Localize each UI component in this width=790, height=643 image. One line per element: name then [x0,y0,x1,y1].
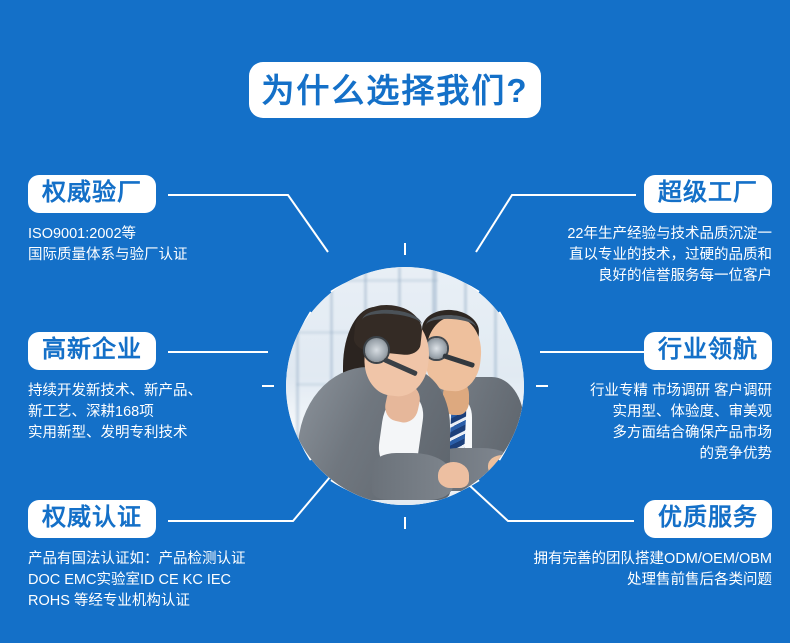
feature-right-3-badge-label: 优质服务 [658,506,758,530]
feature-left-1: 权威验厂 ISO9001:2002等 国际质量体系与验厂认证 [28,175,328,266]
feature-left-2: 高新企业 持续开发新技术、新产品、 新工艺、深耕168项 实用新型、发明专利技术 [28,332,328,444]
feature-right-1: 超级工厂 22年生产经验与技术品质沉淀一 直以专业的技术，过硬的品质和 良好的信… [472,175,772,287]
feature-right-1-desc: 22年生产经验与技术品质沉淀一 直以专业的技术，过硬的品质和 良好的信誉服务每一… [472,224,772,287]
feature-left-1-badge[interactable]: 权威验厂 [28,175,156,213]
feature-right-1-badge[interactable]: 超级工厂 [644,175,772,213]
feature-left-3-badge-label: 权威认证 [42,506,142,530]
page-title-badge: 为什么选择我们? [249,62,541,118]
feature-left-3-desc: 产品有国法认证如：产品检测认证 DOC EMC实验室ID CE KC IEC R… [28,549,348,612]
feature-right-1-badge-label: 超级工厂 [658,181,758,205]
feature-right-2: 行业领航 行业专精 市场调研 客户调研 实用型、体验度、审美观 多方面结合确保产… [472,332,772,465]
feature-left-2-desc: 持续开发新技术、新产品、 新工艺、深耕168项 实用新型、发明专利技术 [28,381,328,444]
feature-right-3: 优质服务 拥有完善的团队搭建ODM/OEM/OBM 处理售前售后各类问题 [442,500,772,591]
feature-right-2-badge-label: 行业领航 [658,338,758,362]
feature-right-2-desc: 行业专精 市场调研 客户调研 实用型、体验度、审美观 多方面结合确保产品市场 的… [472,381,772,465]
feature-right-3-badge[interactable]: 优质服务 [644,500,772,538]
feature-right-2-badge[interactable]: 行业领航 [644,332,772,370]
why-choose-us-poster: 为什么选择我们? [0,0,790,643]
feature-left-2-badge-label: 高新企业 [42,338,142,362]
feature-left-3: 权威认证 产品有国法认证如：产品检测认证 DOC EMC实验室ID CE KC … [28,500,348,612]
feature-left-2-badge[interactable]: 高新企业 [28,332,156,370]
feature-right-3-desc: 拥有完善的团队搭建ODM/OEM/OBM 处理售前售后各类问题 [442,549,772,591]
page-title: 为什么选择我们? [261,74,528,107]
feature-left-3-badge[interactable]: 权威认证 [28,500,156,538]
feature-left-1-desc: ISO9001:2002等 国际质量体系与验厂认证 [28,224,328,266]
feature-left-1-badge-label: 权威验厂 [42,181,142,205]
